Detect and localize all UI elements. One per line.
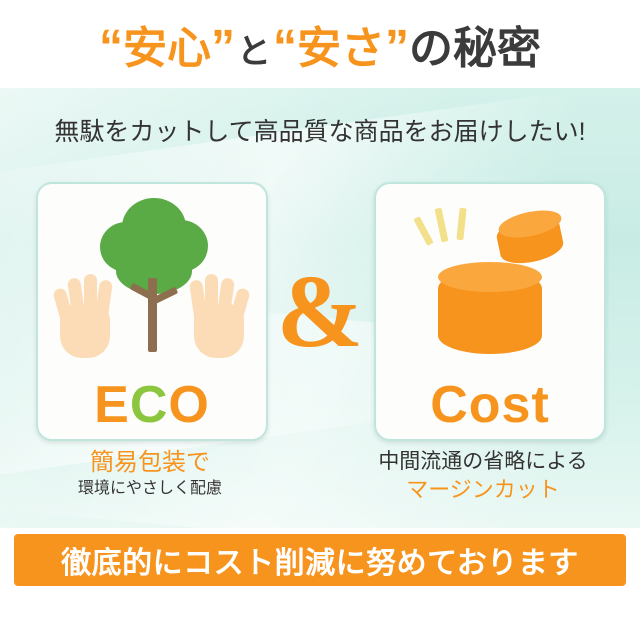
caption-eco-sub: 環境にやさしく配慮	[24, 478, 276, 500]
card-cost: Cost	[374, 182, 606, 441]
hands-icon-right	[188, 270, 250, 358]
cost-illustration	[376, 194, 604, 384]
headline-connector: と	[235, 33, 273, 71]
ampersand: &	[268, 260, 372, 364]
feature-cards: ECO & Cost	[0, 182, 640, 442]
poster-root: “安心”と“安さ”の秘密 無駄をカットして高品質な商品をお届けしたい!	[0, 0, 640, 640]
cost-word: Cost	[376, 377, 604, 433]
headline-quote-open: “	[99, 21, 123, 74]
caption-eco-main: 簡易包装で	[24, 448, 276, 478]
bottom-banner-text: 徹底的にコスト削減に努めております	[61, 538, 579, 582]
eco-letter-c: C	[130, 376, 169, 434]
caption-cost-sub: マージンカット	[338, 476, 628, 504]
card-eco: ECO	[36, 182, 268, 441]
headline-suffix: の秘密	[409, 24, 541, 73]
eco-letter-e: E	[94, 376, 130, 434]
headline-quote-close-2: ”	[385, 21, 409, 74]
eco-illustration	[38, 192, 266, 382]
captions: 簡易包装で 環境にやさしく配慮 中間流通の省略による マージンカット	[0, 448, 640, 522]
eco-word: ECO	[38, 377, 266, 433]
bottom-banner: 徹底的にコスト削減に努めております	[14, 534, 626, 586]
hands-icon	[54, 270, 116, 358]
caption-eco: 簡易包装で 環境にやさしく配慮	[24, 448, 276, 500]
caption-cost: 中間流通の省略による マージンカット	[338, 448, 628, 504]
headline-text: “安心”と“安さ”の秘密	[99, 12, 541, 76]
headline-word-anshin: 安心	[123, 24, 211, 73]
headline: “安心”と“安さ”の秘密	[0, 0, 640, 88]
headline-quote-open-2: “	[273, 21, 297, 74]
headline-quote-close: ”	[211, 21, 235, 74]
caption-cost-main: 中間流通の省略による	[338, 448, 628, 476]
headline-word-yasusa: 安さ	[297, 24, 385, 73]
footer-space	[0, 586, 640, 640]
subheadline: 無駄をカットして高品質な商品をお届けしたい!	[0, 112, 640, 148]
eco-letter-o: O	[168, 376, 209, 434]
